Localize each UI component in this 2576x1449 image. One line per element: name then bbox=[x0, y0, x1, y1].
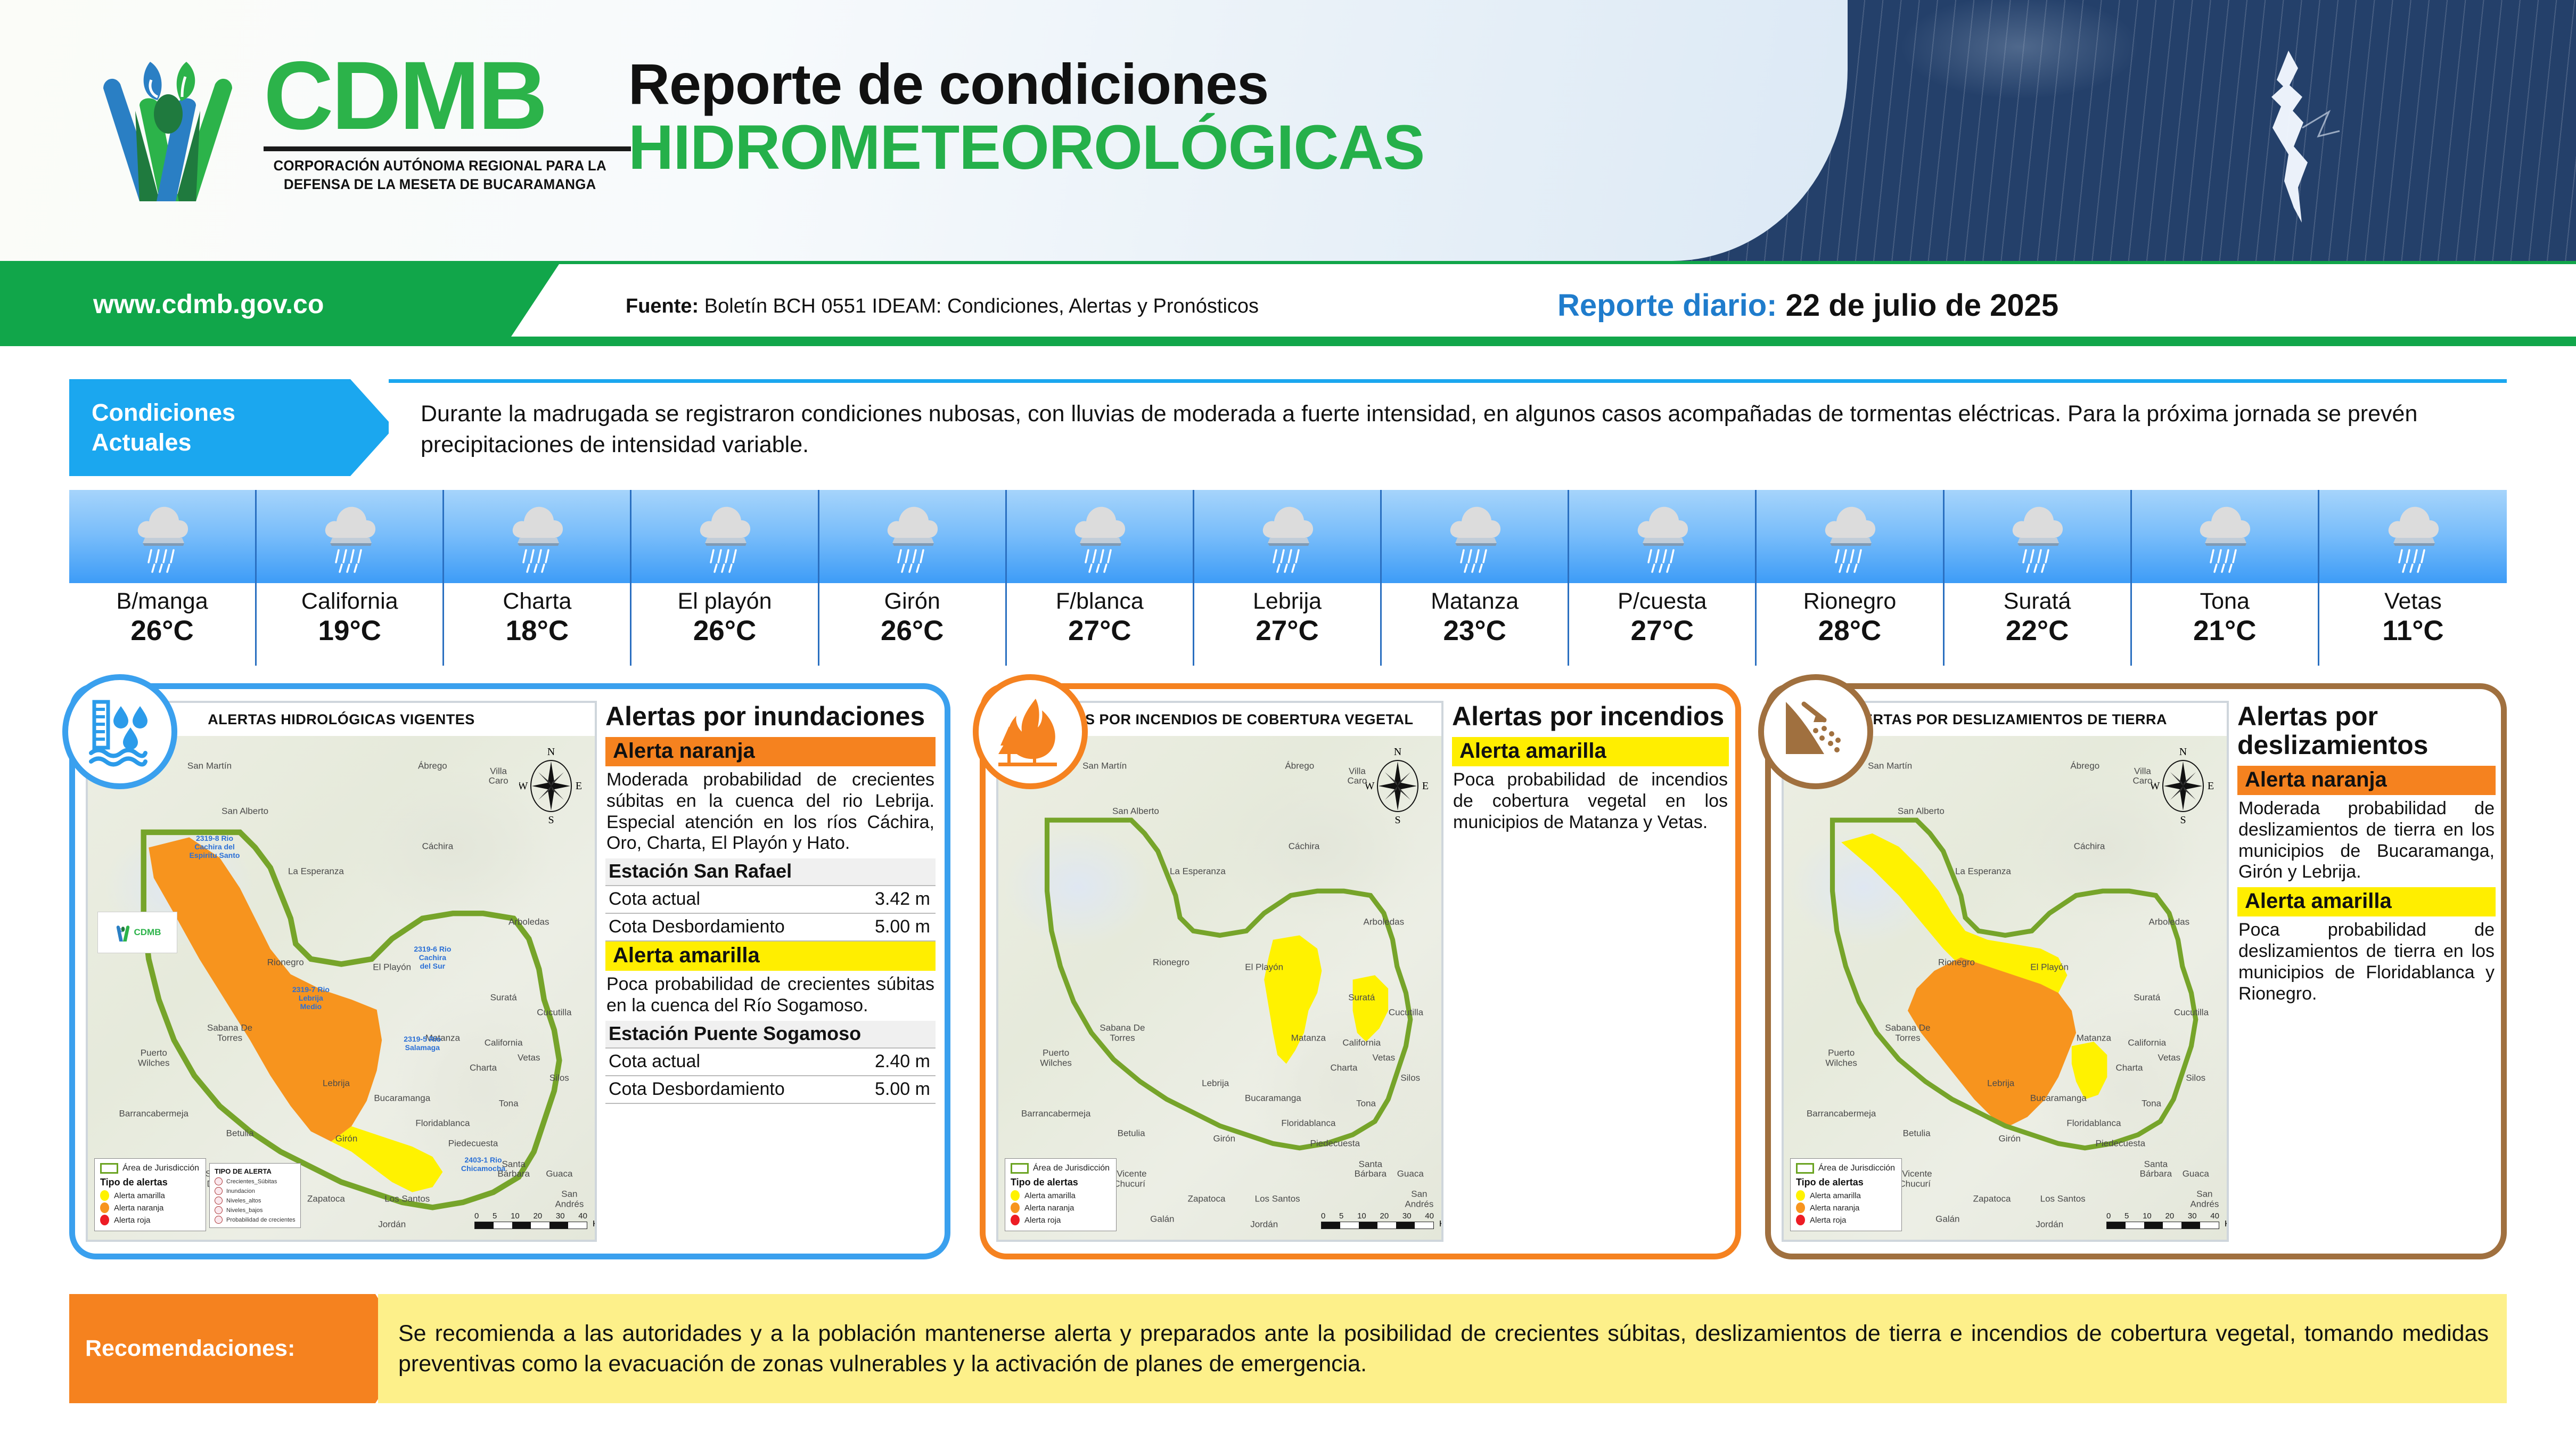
legend-swatch bbox=[1796, 1215, 1805, 1225]
station-heading: Estación Puente Sogamoso bbox=[605, 1021, 936, 1049]
station-row-label: Cota actual bbox=[609, 889, 700, 910]
weather-temperature: 27°C bbox=[1007, 614, 1193, 648]
current-conditions-tag-line1: Condiciones bbox=[92, 398, 394, 428]
legend-item: Alerta naranja bbox=[1011, 1202, 1110, 1213]
water-level-gauge-icon bbox=[83, 694, 157, 769]
map-place-label: El Playón bbox=[2030, 963, 2069, 973]
scalebar-unit: Km bbox=[2225, 1219, 2229, 1229]
weather-temperature: 26°C bbox=[69, 614, 255, 648]
weather-cell: Suratá 22°C bbox=[1945, 490, 2132, 666]
alert-panels-row: ALERTAS HIDROLÓGICAS VIGENTES San Martín… bbox=[69, 683, 2507, 1269]
map-place-label: California bbox=[1342, 1038, 1381, 1049]
scalebar-tick: 40 bbox=[578, 1211, 587, 1221]
legend2-swatch-icon bbox=[215, 1206, 223, 1214]
title-line-1: Reporte de condiciones bbox=[628, 53, 1424, 116]
scalebar-tick: 20 bbox=[1380, 1211, 1389, 1221]
legend2-item: Niveles_bajos bbox=[215, 1206, 296, 1214]
weather-cell: Girón 26°C bbox=[819, 490, 1007, 666]
rain-cloud-icon bbox=[1256, 500, 1319, 574]
map-place-label: Suratá bbox=[1348, 993, 1375, 1003]
weather-labels: Girón 26°C bbox=[819, 583, 1007, 666]
map-scalebar: 0510203040 Km bbox=[474, 1211, 587, 1229]
map-place-label: Lebrija bbox=[1202, 1078, 1229, 1088]
weather-municipality: Lebrija bbox=[1194, 588, 1380, 614]
logo-subtitle-line2: DEFENSA DE LA MESETA DE BUCARAMANGA bbox=[264, 175, 616, 194]
scalebar-tick: 20 bbox=[2165, 1211, 2174, 1221]
station-row: Cota Desbordamiento 5.00 m bbox=[605, 1076, 936, 1104]
map-place-label: Jordán bbox=[2036, 1219, 2063, 1230]
map-river-label: 2319-5 Rio Salamaga bbox=[404, 1035, 441, 1052]
map-place-label: Zapatoca bbox=[1188, 1194, 1226, 1205]
weather-municipality: F/blanca bbox=[1007, 588, 1193, 614]
map-place-label: Sabana DeTorres bbox=[1885, 1023, 1930, 1043]
current-conditions-tag: Condiciones Actuales bbox=[69, 379, 394, 476]
scalebar-tick: 0 bbox=[1321, 1211, 1325, 1221]
alert-panel-deslizamientos: ALERTAS POR DESLIZAMIENTOS DE TIERRA San… bbox=[1765, 683, 2507, 1259]
legend-swatch bbox=[100, 1190, 109, 1201]
weather-labels: Lebrija 27°C bbox=[1194, 583, 1382, 666]
map-place-label: Arboledas bbox=[1364, 918, 1405, 928]
map-place-label: Galán bbox=[1150, 1215, 1174, 1225]
website-url[interactable]: www.cdmb.gov.co bbox=[93, 289, 324, 320]
weather-strip: B/manga 26°C California 19°C Charta 1 bbox=[69, 490, 2507, 666]
station-row-value: 3.42 m bbox=[875, 889, 930, 910]
weather-temperature: 19°C bbox=[257, 614, 442, 648]
legend-jurisdiction: Área de Jurisdicción bbox=[1796, 1163, 1895, 1174]
legend-item-label: Alerta roja bbox=[1024, 1216, 1061, 1225]
map-place-label: Silos bbox=[1400, 1074, 1420, 1084]
weather-labels: Tona 21°C bbox=[2132, 583, 2319, 666]
legend-item-label: Alerta naranja bbox=[114, 1204, 163, 1213]
map-place-label: Zapatoca bbox=[307, 1194, 345, 1205]
weather-municipality: Suratá bbox=[1945, 588, 2130, 614]
map-place-label: Matanza bbox=[2077, 1033, 2111, 1043]
weather-municipality: Matanza bbox=[1382, 588, 1568, 614]
legend-swatch bbox=[1796, 1190, 1805, 1201]
weather-temperature: 27°C bbox=[1194, 614, 1380, 648]
map-place-label: Los Santos bbox=[1255, 1194, 1300, 1205]
map-place-label: Bucaramanga bbox=[1245, 1094, 1301, 1104]
panel-text-column: Alertas por incendios Alerta amarilla Po… bbox=[1452, 702, 1729, 1243]
weather-sky bbox=[631, 490, 819, 583]
weather-labels: California 19°C bbox=[257, 583, 444, 666]
map-place-label: El Playón bbox=[1245, 963, 1283, 973]
alert-map[interactable]: ALERTAS POR DESLIZAMIENTOS DE TIERRA San… bbox=[1782, 701, 2229, 1242]
logo-subtitle-line1: CORPORACIÓN AUTÓNOMA REGIONAL PARA LA bbox=[264, 157, 616, 175]
legend2-swatch-icon bbox=[215, 1216, 223, 1224]
legend-item: Alerta naranja bbox=[1796, 1202, 1895, 1213]
station-row-value: 2.40 m bbox=[875, 1051, 930, 1072]
map-place-label: Cáchira bbox=[1289, 842, 1320, 852]
rain-cloud-icon bbox=[318, 500, 381, 574]
weather-temperature: 22°C bbox=[1945, 614, 2130, 648]
recommendations-tag: Recomendaciones: bbox=[69, 1294, 410, 1403]
scalebar-tick: 10 bbox=[511, 1211, 520, 1221]
jurisdiction-label: Área de Jurisdicción bbox=[1033, 1164, 1110, 1173]
rain-cloud-icon bbox=[693, 500, 756, 574]
cdmb-mini-logo-icon bbox=[114, 921, 132, 944]
scalebar-ticks: 0510203040 bbox=[2106, 1211, 2219, 1221]
map-place-label: Betulia bbox=[1118, 1129, 1145, 1139]
map-place-label: VillaCaro bbox=[2132, 766, 2152, 786]
recommendations-row: Recomendaciones: Se recomienda a las aut… bbox=[69, 1294, 2507, 1403]
scalebar-tick: 0 bbox=[2106, 1211, 2111, 1221]
map-river-label: 2319-6 Rio Cachira del Sur bbox=[414, 945, 451, 970]
weather-labels: Matanza 23°C bbox=[1382, 583, 1569, 666]
map-place-label: La Esperanza bbox=[1955, 867, 2011, 877]
weather-sky bbox=[2319, 490, 2507, 583]
weather-municipality: Vetas bbox=[2319, 588, 2507, 614]
svg-text:E: E bbox=[2208, 780, 2214, 792]
map-place-label: Sabana DeTorres bbox=[1100, 1023, 1145, 1043]
svg-text:S: S bbox=[1394, 814, 1400, 825]
weather-municipality: B/manga bbox=[69, 588, 255, 614]
map-place-label: San Martín bbox=[187, 761, 232, 771]
panel-heading: Alertas por inundaciones bbox=[605, 702, 936, 731]
alert-description: Poca probabilidad de crecientes súbitas … bbox=[605, 971, 936, 1021]
svg-text:N: N bbox=[1394, 746, 1401, 758]
map-place-label: Bucaramanga bbox=[374, 1094, 430, 1104]
cdmb-logo: CDMB CORPORACIÓN AUTÓNOMA REGIONAL PARA … bbox=[80, 42, 634, 217]
station-row: Cota actual 2.40 m bbox=[605, 1049, 936, 1076]
map-river-label: 2403-1 Rio Chicamocha bbox=[461, 1156, 505, 1173]
map-place-label: Cáchira bbox=[2074, 842, 2105, 852]
weather-labels: Vetas 11°C bbox=[2319, 583, 2507, 666]
scalebar-tick: 30 bbox=[556, 1211, 565, 1221]
map-place-label: Piedecuesta bbox=[2096, 1139, 2146, 1149]
map-river-label: 2319-8 Rio Cachira del Espiritu Santo bbox=[190, 834, 240, 859]
weather-sky bbox=[2132, 490, 2319, 583]
map-legend: Área de Jurisdicción Tipo de alertas Ale… bbox=[1005, 1158, 1117, 1231]
cdmb-logo-mark-icon bbox=[80, 42, 256, 217]
alert-panel-inundaciones: ALERTAS HIDROLÓGICAS VIGENTES San Martín… bbox=[69, 683, 950, 1259]
map-place-label: Vetas bbox=[1373, 1053, 1396, 1063]
alert-level-band: Alerta naranja bbox=[605, 737, 936, 766]
scalebar-ticks: 0510203040 bbox=[1321, 1211, 1434, 1221]
alert-level-band: Alerta amarilla bbox=[2237, 887, 2496, 916]
map-place-label: Betulia bbox=[226, 1129, 254, 1139]
jurisdiction-label: Área de Jurisdicción bbox=[122, 1164, 199, 1173]
station-row: Cota actual 3.42 m bbox=[605, 886, 936, 914]
legend-item: Alerta amarilla bbox=[100, 1190, 199, 1201]
legend-item: Alerta amarilla bbox=[1011, 1190, 1110, 1201]
legend-item: Alerta roja bbox=[1796, 1215, 1895, 1225]
weather-sky bbox=[819, 490, 1007, 583]
map-place-label: Arboledas bbox=[2149, 918, 2190, 928]
weather-cell: Vetas 11°C bbox=[2319, 490, 2507, 666]
station-row-label: Cota Desbordamiento bbox=[609, 916, 785, 937]
alert-description: Poca probabilidad de incendios de cobert… bbox=[1452, 766, 1729, 837]
legend-item: Alerta naranja bbox=[100, 1202, 199, 1213]
map-place-label: El Playón bbox=[373, 963, 411, 973]
scalebar-unit: Km bbox=[1439, 1219, 1443, 1229]
map-scalebar: 0510203040 Km bbox=[2106, 1211, 2219, 1229]
weather-cell: F/blanca 27°C bbox=[1007, 490, 1194, 666]
legend-title: Tipo de alertas bbox=[1011, 1177, 1110, 1188]
map-canvas: San MartínÁbregoVillaCaroSan AlbertoCách… bbox=[1784, 736, 2227, 1240]
scalebar-tick: 40 bbox=[1425, 1211, 1434, 1221]
rain-cloud-icon bbox=[2382, 500, 2444, 574]
map-river-label: 2319-7 Rio Lebrija Medio bbox=[292, 985, 330, 1011]
map-place-label: California bbox=[2128, 1038, 2166, 1049]
alert-level-band: Alerta naranja bbox=[2237, 766, 2496, 795]
panel-badge bbox=[62, 674, 177, 789]
map-place-label: California bbox=[485, 1038, 523, 1049]
legend2-item-label: Inundacion bbox=[226, 1188, 255, 1194]
scalebar-tick: 40 bbox=[2210, 1211, 2219, 1221]
scalebar-tick: 5 bbox=[1339, 1211, 1343, 1221]
map-place-label: Piedecuesta bbox=[448, 1139, 498, 1149]
source-line: Fuente: Boletín BCH 0551 IDEAM: Condicio… bbox=[626, 295, 1259, 318]
lightning-bolt-icon bbox=[2209, 48, 2368, 224]
map-place-label: Lebrija bbox=[323, 1078, 350, 1088]
legend-item-label: Alerta roja bbox=[114, 1216, 150, 1225]
weather-labels: B/manga 26°C bbox=[69, 583, 257, 666]
svg-text:N: N bbox=[2179, 746, 2187, 758]
map-place-label: Rionegro bbox=[267, 957, 304, 968]
weather-temperature: 26°C bbox=[631, 614, 817, 648]
map-place-label: Barrancabermeja bbox=[1807, 1109, 1876, 1119]
svg-text:W: W bbox=[519, 780, 528, 792]
scalebar-tick: 10 bbox=[1357, 1211, 1366, 1221]
weather-cell: Matanza 23°C bbox=[1382, 490, 1569, 666]
weather-temperature: 11°C bbox=[2319, 614, 2507, 648]
alert-description: Moderada probabilidad de crecientes súbi… bbox=[605, 766, 936, 858]
map-place-label: Tona bbox=[1356, 1099, 1376, 1109]
svg-text:S: S bbox=[548, 814, 554, 825]
map-place-label: Zapatoca bbox=[1973, 1194, 2011, 1205]
wildfire-icon bbox=[993, 694, 1068, 769]
weather-labels: P/cuesta 27°C bbox=[1569, 583, 1757, 666]
map-place-label: Cucutilla bbox=[1389, 1008, 1423, 1018]
map-legend-alert-types: TIPO DE ALERTA Crecientes_Súbitas Inunda… bbox=[209, 1163, 301, 1228]
weather-municipality: El playón bbox=[631, 588, 817, 614]
weather-temperature: 26°C bbox=[819, 614, 1005, 648]
legend-title: Tipo de alertas bbox=[100, 1177, 199, 1188]
station-row: Cota Desbordamiento 5.00 m bbox=[605, 914, 936, 942]
map-place-label: SanAndrés bbox=[1405, 1190, 1433, 1209]
weather-cell: Rionegro 28°C bbox=[1757, 490, 1944, 666]
url-source-bar: www.cdmb.gov.co Fuente: Boletín BCH 0551… bbox=[0, 261, 2576, 346]
weather-sky bbox=[1569, 490, 1757, 583]
legend-jurisdiction: Área de Jurisdicción bbox=[1011, 1163, 1110, 1174]
map-canvas: San MartínÁbregoVillaCaroSan AlbertoCách… bbox=[88, 736, 595, 1240]
jurisdiction-swatch bbox=[1011, 1163, 1029, 1174]
alert-level-band: Alerta amarilla bbox=[605, 942, 936, 971]
map-place-label: Charta bbox=[2115, 1063, 2143, 1074]
legend2-item-label: Niveles_bajos bbox=[226, 1207, 262, 1214]
jurisdiction-label: Área de Jurisdicción bbox=[1818, 1164, 1895, 1173]
rain-cloud-icon bbox=[506, 500, 569, 574]
page-title: Reporte de condiciones HIDROMETEOROLÓGIC… bbox=[628, 53, 1424, 179]
scalebar-tick: 20 bbox=[533, 1211, 542, 1221]
map-place-label: Silos bbox=[2186, 1074, 2205, 1084]
weather-municipality: Charta bbox=[444, 588, 630, 614]
recommendations-body: Se recomienda a las autoridades y a la p… bbox=[378, 1294, 2507, 1403]
map-canvas: San MartínÁbregoVillaCaroSan AlbertoCách… bbox=[998, 736, 1441, 1240]
panel-text-column: Alertas por deslizamientos Alerta naranj… bbox=[2237, 702, 2496, 1243]
legend2-swatch-icon bbox=[215, 1187, 223, 1195]
weather-cell: Lebrija 27°C bbox=[1194, 490, 1382, 666]
map-place-label: SanAndrés bbox=[555, 1190, 584, 1209]
scalebar-bar bbox=[2106, 1222, 2219, 1229]
map-place-label: Betulia bbox=[1903, 1129, 1931, 1139]
map-place-label: Cucutilla bbox=[2174, 1008, 2209, 1018]
weather-labels: El playón 26°C bbox=[631, 583, 819, 666]
scalebar-tick: 10 bbox=[2143, 1211, 2152, 1221]
map-place-label: PuertoWilches bbox=[138, 1049, 170, 1068]
legend-item-label: Alerta naranja bbox=[1810, 1204, 1859, 1213]
report-date-label: Reporte diario: bbox=[1557, 288, 1777, 323]
recommendations-text: Se recomienda a las autoridades y a la p… bbox=[398, 1319, 2489, 1379]
legend-swatch bbox=[1011, 1215, 1020, 1225]
map-place-label: Guaca bbox=[2183, 1169, 2209, 1180]
map-legend: Área de Jurisdicción Tipo de alertas Ale… bbox=[94, 1158, 206, 1231]
alert-map[interactable]: ALERTAS HIDROLÓGICAS VIGENTES San Martín… bbox=[86, 701, 597, 1242]
legend-item-label: Alerta amarilla bbox=[1024, 1191, 1076, 1200]
map-place-label: Vetas bbox=[2158, 1053, 2181, 1063]
legend-title: Tipo de alertas bbox=[1796, 1177, 1895, 1188]
legend2-item-label: Probabilidad de crecientes bbox=[226, 1217, 296, 1223]
rain-cloud-icon bbox=[881, 500, 944, 574]
rain-cloud-icon bbox=[1631, 500, 1694, 574]
legend-item: Alerta amarilla bbox=[1796, 1190, 1895, 1201]
map-place-label: La Esperanza bbox=[1170, 867, 1226, 877]
map-cdmb-watermark: CDMB bbox=[97, 912, 177, 953]
title-line-2: HIDROMETEOROLÓGICAS bbox=[628, 116, 1424, 179]
station-row-value: 5.00 m bbox=[875, 1079, 930, 1100]
legend2-swatch-icon bbox=[215, 1177, 223, 1185]
map-place-label: La Esperanza bbox=[288, 867, 344, 877]
map-place-label: Silos bbox=[549, 1074, 569, 1084]
weather-municipality: Rionegro bbox=[1757, 588, 1942, 614]
weather-sky bbox=[69, 490, 257, 583]
report-date-line: Reporte diario: 22 de julio de 2025 bbox=[1557, 288, 2058, 323]
legend2-item-label: Niveles_altos bbox=[226, 1198, 261, 1204]
map-place-label: Piedecuesta bbox=[1310, 1139, 1360, 1149]
map-place-label: PuertoWilches bbox=[1825, 1049, 1857, 1068]
svg-text:E: E bbox=[576, 780, 582, 792]
legend-swatch bbox=[100, 1202, 109, 1213]
current-conditions-tag-line2: Actuales bbox=[92, 428, 394, 457]
map-place-label: SantaBárbara bbox=[2140, 1159, 2172, 1179]
map-place-label: Charta bbox=[1330, 1063, 1357, 1074]
weather-temperature: 18°C bbox=[444, 614, 630, 648]
map-place-label: Los Santos bbox=[2040, 1194, 2086, 1205]
map-place-label: Tona bbox=[2142, 1099, 2161, 1109]
legend-swatch bbox=[1011, 1190, 1020, 1201]
weather-sky bbox=[257, 490, 444, 583]
current-conditions-row: Condiciones Actuales Durante la madrugad… bbox=[69, 379, 2507, 476]
svg-text:W: W bbox=[2151, 780, 2160, 792]
weather-temperature: 23°C bbox=[1382, 614, 1568, 648]
jurisdiction-swatch bbox=[100, 1163, 118, 1174]
map-place-label: Sabana DeTorres bbox=[207, 1023, 252, 1043]
map-place-label: SantaBárbara bbox=[1355, 1159, 1387, 1179]
weather-cell: P/cuesta 27°C bbox=[1569, 490, 1757, 666]
scalebar-tick: 0 bbox=[474, 1211, 479, 1221]
map-place-label: Cáchira bbox=[422, 842, 454, 852]
map-place-label: San Alberto bbox=[1898, 807, 1945, 817]
map-place-label: Guaca bbox=[1397, 1169, 1424, 1180]
weather-municipality: P/cuesta bbox=[1569, 588, 1755, 614]
weather-sky bbox=[1007, 490, 1194, 583]
map-place-label: Ábrego bbox=[2070, 761, 2099, 771]
map-place-label: San Martín bbox=[1082, 761, 1127, 771]
legend2-item: Probabilidad de crecientes bbox=[215, 1216, 296, 1224]
weather-labels: F/blanca 27°C bbox=[1007, 583, 1194, 666]
map-scalebar: 0510203040 Km bbox=[1321, 1211, 1434, 1229]
report-date-value: 22 de julio de 2025 bbox=[1777, 288, 2059, 323]
panel-text-column: Alertas por inundaciones Alerta naranja … bbox=[605, 702, 936, 1243]
page-header: CDMB CORPORACIÓN AUTÓNOMA REGIONAL PARA … bbox=[0, 0, 2576, 261]
scalebar-ticks: 0510203040 bbox=[474, 1211, 587, 1221]
source-label: Fuente: bbox=[626, 295, 699, 317]
legend-item-label: Alerta amarilla bbox=[1810, 1191, 1861, 1200]
map-place-label: Cucutilla bbox=[537, 1008, 571, 1018]
weather-temperature: 21°C bbox=[2132, 614, 2318, 648]
rain-cloud-icon bbox=[1818, 500, 1881, 574]
map-place-label: Floridablanca bbox=[2066, 1119, 2121, 1129]
alert-map[interactable]: ALERTAS POR INCENDIOS DE COBERTURA VEGET… bbox=[996, 701, 1443, 1242]
weather-temperature: 28°C bbox=[1757, 614, 1942, 648]
rain-cloud-icon bbox=[2006, 500, 2069, 574]
map-place-label: Rionegro bbox=[1153, 957, 1189, 968]
weather-labels: Charta 18°C bbox=[444, 583, 631, 666]
map-place-label: Tona bbox=[499, 1099, 519, 1109]
legend2-item-label: Crecientes_Súbitas bbox=[226, 1178, 277, 1185]
weather-sky bbox=[1382, 490, 1569, 583]
scalebar-unit: Km bbox=[593, 1219, 597, 1229]
station-row-value: 5.00 m bbox=[875, 916, 930, 937]
weather-cell: Tona 21°C bbox=[2132, 490, 2319, 666]
map-place-label: Girón bbox=[1999, 1134, 2021, 1144]
rain-cloud-icon bbox=[1068, 500, 1131, 574]
legend-swatch bbox=[1796, 1202, 1805, 1213]
map-place-label: VillaCaro bbox=[489, 766, 508, 786]
station-heading: Estación San Rafael bbox=[605, 858, 936, 886]
scalebar-tick: 30 bbox=[2188, 1211, 2197, 1221]
map-place-label: Suratá bbox=[2134, 993, 2160, 1003]
map-place-label: VillaCaro bbox=[1347, 766, 1367, 786]
alert-description: Poca probabilidad de deslizamientos de t… bbox=[2237, 916, 2496, 1009]
map-place-label: Galán bbox=[1935, 1215, 1959, 1225]
alert-level-band: Alerta amarilla bbox=[1452, 737, 1729, 766]
svg-text:E: E bbox=[1422, 780, 1429, 792]
legend2-title: TIPO DE ALERTA bbox=[215, 1167, 296, 1175]
svg-text:N: N bbox=[547, 746, 555, 758]
legend-item: Alerta roja bbox=[1011, 1215, 1110, 1225]
alert-panel-incendios: ALERTAS POR INCENDIOS DE COBERTURA VEGET… bbox=[980, 683, 1741, 1259]
legend-item-label: Alerta naranja bbox=[1024, 1204, 1074, 1213]
map-place-label: Vetas bbox=[518, 1053, 540, 1063]
svg-text:W: W bbox=[1366, 780, 1375, 792]
compass-rose-icon: N S W E bbox=[2151, 746, 2215, 825]
weather-municipality: Girón bbox=[819, 588, 1005, 614]
map-place-label: Guaca bbox=[546, 1169, 572, 1180]
map-place-label: Barrancabermeja bbox=[119, 1109, 188, 1119]
weather-sky bbox=[444, 490, 631, 583]
weather-labels: Rionegro 28°C bbox=[1757, 583, 1944, 666]
rain-cloud-icon bbox=[1443, 500, 1506, 574]
compass-rose-icon: N S W E bbox=[1366, 746, 1430, 825]
legend-item-label: Alerta roja bbox=[1810, 1216, 1846, 1225]
map-place-label: Arboledas bbox=[508, 918, 549, 928]
scalebar-tick: 30 bbox=[1402, 1211, 1412, 1221]
map-place-label: Matanza bbox=[1291, 1033, 1326, 1043]
alert-description: Moderada probabilidad de deslizamientos … bbox=[2237, 795, 2496, 887]
logo-acronym: CDMB bbox=[264, 51, 631, 140]
